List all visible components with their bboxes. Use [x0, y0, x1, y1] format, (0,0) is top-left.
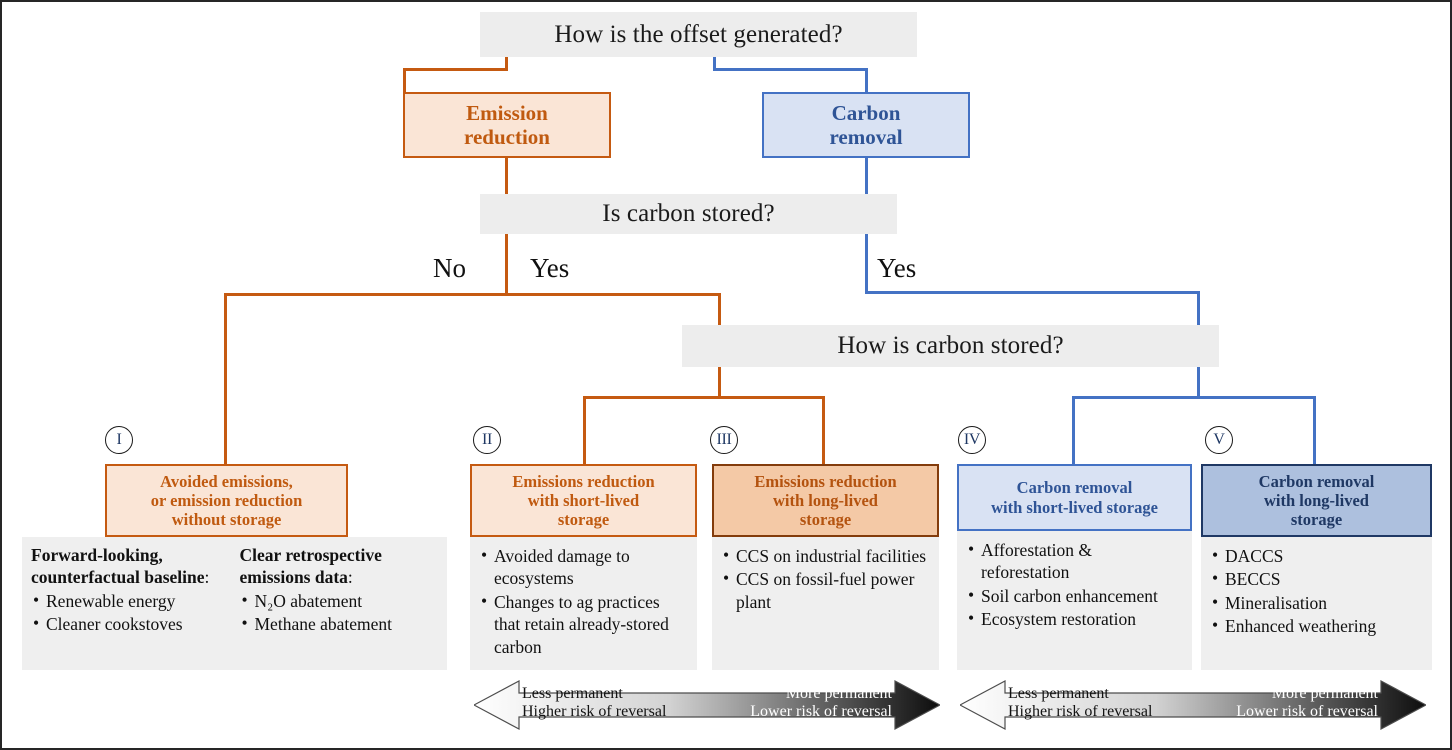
edge-label-no: No	[433, 253, 466, 284]
examples-panel-i: Forward-looking, counterfactual baseline…	[22, 537, 447, 670]
connector-stored-yes-down	[718, 293, 721, 325]
question-how-is-carbon-stored: How is carbon stored?	[682, 325, 1219, 367]
list-item: Avoided damage to ecosystems	[479, 545, 688, 590]
connector-orange-split-h	[583, 396, 825, 399]
connector-reduction-to-stored	[505, 158, 508, 194]
numeral-badge-i-label: I	[116, 431, 121, 449]
node-category-v-label: Carbon removal with long-lived storage	[1259, 472, 1375, 529]
node-category-iv-label: Carbon removal with short-lived storage	[991, 478, 1158, 516]
permanence-right-text: More permanent Lower risk of reversal	[750, 685, 892, 721]
edge-label-yes-left-text: Yes	[530, 253, 569, 283]
edge-label-yes-right-text: Yes	[877, 253, 916, 283]
node-category-i-label: Avoided emissions, or emission reduction…	[151, 472, 303, 529]
numeral-badge-i: I	[105, 426, 133, 454]
numeral-badge-ii: II	[473, 426, 501, 454]
examples-heading-2: Clear retrospective emissions data:	[240, 544, 439, 589]
numeral-badge-iv: IV	[958, 426, 986, 454]
node-category-i: Avoided emissions, or emission reduction…	[105, 464, 348, 537]
numeral-badge-iii-label: III	[716, 431, 731, 449]
connector-how-stored-orange-stem	[718, 367, 721, 398]
edge-label-yes-right: Yes	[877, 253, 916, 284]
question-how-is-offset-generated: How is the offset generated?	[480, 12, 917, 57]
question-is-carbon-stored: Is carbon stored?	[480, 194, 897, 234]
permanence-right-text-2: More permanent Lower risk of reversal	[1236, 685, 1378, 721]
examples-list-iv: Afforestation & reforestation Soil carbo…	[966, 539, 1183, 631]
connector-root-to-removal-h	[713, 68, 868, 71]
connector-to-cat4	[1072, 396, 1075, 464]
node-category-v: Carbon removal with long-lived storage	[1201, 464, 1432, 537]
examples-heading-1: Forward-looking, counterfactual baseline…	[31, 544, 230, 589]
node-category-ii: Emissions reduction with short-lived sto…	[470, 464, 697, 537]
permanence-right-line2: Lower risk of reversal	[750, 703, 892, 721]
list-item: Mineralisation	[1210, 592, 1423, 614]
connector-stored-no-down	[224, 293, 227, 468]
examples-panel-iv: Afforestation & reforestation Soil carbo…	[957, 531, 1192, 670]
list-item: Cleaner cookstoves	[31, 613, 230, 635]
list-item: Ecosystem restoration	[966, 608, 1183, 630]
permanence-right-line1: More permanent	[750, 685, 892, 703]
list-item: BECCS	[1210, 568, 1423, 590]
list-item: CCS on industrial facilities	[721, 545, 930, 567]
list-item: DACCS	[1210, 545, 1423, 567]
connector-root-to-reduction-v2	[403, 68, 406, 92]
examples-list-v: DACCS BECCS Mineralisation Enhanced weat…	[1210, 545, 1423, 638]
node-category-iii-label: Emissions reduction with long-lived stor…	[754, 472, 896, 529]
examples-column-2: Clear retrospective emissions data: N₂O …	[240, 544, 439, 636]
list-item: Soil carbon enhancement	[966, 585, 1183, 607]
list-item: Methane abatement	[240, 613, 439, 635]
connector-stored-stem	[505, 234, 508, 295]
examples-list-2: N₂O abatement Methane abatement	[240, 590, 439, 636]
list-item: CCS on fossil-fuel power plant	[721, 568, 930, 613]
connector-to-cat3	[822, 396, 825, 464]
permanence-arrow-right: Less permanent Higher risk of reversal M…	[960, 676, 1426, 734]
connector-removal-to-stored	[865, 158, 868, 194]
edge-label-no-text: No	[433, 253, 466, 283]
connector-stored-h-left	[224, 293, 508, 296]
diagram-canvas: How is the offset generated? Emission re…	[0, 0, 1452, 750]
node-emission-reduction: Emission reduction	[403, 92, 611, 158]
node-emission-reduction-label: Emission reduction	[464, 101, 550, 150]
permanence-left-line1: Less permanent	[522, 685, 666, 703]
connector-root-to-removal-v2	[865, 68, 868, 92]
edge-label-yes-left: Yes	[530, 253, 569, 284]
list-item: Changes to ag practices that retain alre…	[479, 591, 688, 658]
permanence-arrow-left: Less permanent Higher risk of reversal M…	[474, 676, 940, 734]
list-item: Renewable energy	[31, 590, 230, 612]
connector-root-to-reduction-h	[403, 68, 508, 71]
numeral-badge-v-label: V	[1213, 431, 1224, 449]
node-carbon-removal: Carbon removal	[762, 92, 970, 158]
connector-removal-yes-down	[865, 234, 868, 293]
connector-to-cat5	[1313, 396, 1316, 464]
list-item: Afforestation & reforestation	[966, 539, 1183, 584]
question-how-stored-label: How is carbon stored?	[837, 332, 1063, 360]
connector-removal-yes-h	[865, 291, 1200, 294]
numeral-badge-iii: III	[710, 426, 738, 454]
permanence-left-text-2: Less permanent Higher risk of reversal	[1008, 685, 1152, 721]
examples-column-1: Forward-looking, counterfactual baseline…	[31, 544, 230, 636]
list-item: N₂O abatement	[240, 590, 439, 612]
examples-list-iii: CCS on industrial facilities CCS on foss…	[721, 545, 930, 613]
numeral-badge-iv-label: IV	[964, 431, 980, 449]
node-category-ii-label: Emissions reduction with short-lived sto…	[512, 472, 654, 529]
node-category-iv: Carbon removal with short-lived storage	[957, 464, 1192, 531]
permanence-right-line1-2: More permanent	[1236, 685, 1378, 703]
examples-panel-v: DACCS BECCS Mineralisation Enhanced weat…	[1201, 537, 1432, 670]
connector-stored-h-right	[505, 293, 721, 296]
permanence-left-line2: Higher risk of reversal	[522, 703, 666, 721]
connector-removal-yes-down2	[1197, 291, 1200, 325]
connector-blue-split-h	[1072, 396, 1316, 399]
permanence-left-line1-2: Less permanent	[1008, 685, 1152, 703]
connector-to-cat2	[583, 396, 586, 464]
list-item: Enhanced weathering	[1210, 615, 1423, 637]
permanence-left-text: Less permanent Higher risk of reversal	[522, 685, 666, 721]
numeral-badge-v: V	[1205, 426, 1233, 454]
examples-list-ii: Avoided damage to ecosystems Changes to …	[479, 545, 688, 658]
examples-list-1: Renewable energy Cleaner cookstoves	[31, 590, 230, 636]
numeral-badge-ii-label: II	[482, 431, 492, 449]
connector-how-stored-blue-stem	[1197, 367, 1200, 398]
permanence-left-line2-2: Higher risk of reversal	[1008, 703, 1152, 721]
node-category-iii: Emissions reduction with long-lived stor…	[712, 464, 939, 537]
examples-panel-ii: Avoided damage to ecosystems Changes to …	[470, 537, 697, 670]
examples-panel-iii: CCS on industrial facilities CCS on foss…	[712, 537, 939, 670]
permanence-right-line2-2: Lower risk of reversal	[1236, 703, 1378, 721]
node-carbon-removal-label: Carbon removal	[829, 101, 902, 150]
question-stored-label: Is carbon stored?	[602, 200, 774, 228]
question-root-label: How is the offset generated?	[554, 21, 842, 49]
